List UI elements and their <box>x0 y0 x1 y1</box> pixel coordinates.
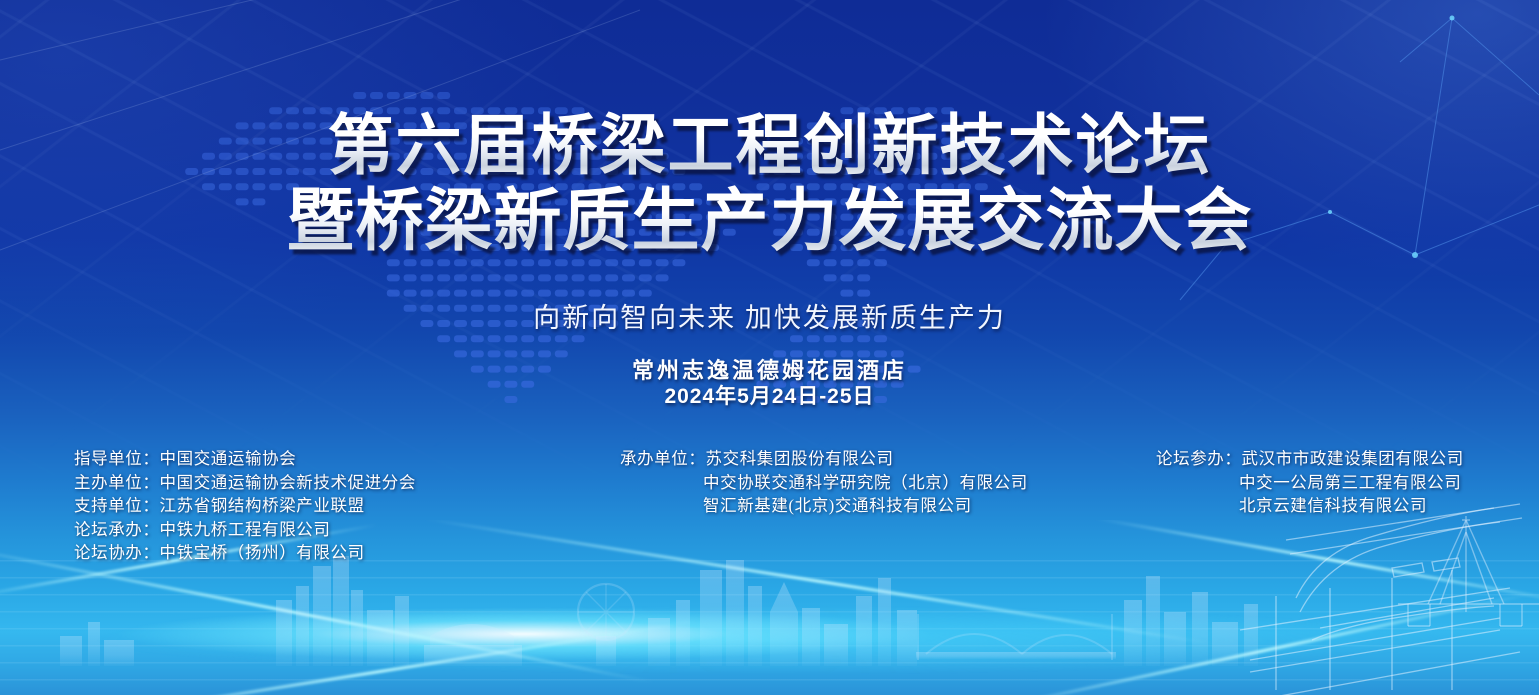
organizer-label <box>1156 494 1239 518</box>
organizer-value: 北京云建信科技有限公司 <box>1239 494 1427 518</box>
organizer-label: 主办单位： <box>74 471 160 495</box>
organizers-column-left: 指导单位： 中国交通运输协会 主办单位： 中国交通运输协会新技术促进分会 支持单… <box>74 447 416 565</box>
organizer-row: 论坛协办： 中铁宝桥（扬州）有限公司 <box>74 541 416 565</box>
organizer-row: 北京云建信科技有限公司 <box>1156 494 1464 518</box>
organizer-row: 中交一公局第三工程有限公司 <box>1156 471 1464 495</box>
organizers-column-right: 论坛参办： 武汉市市政建设集团有限公司 中交一公局第三工程有限公司 北京云建信科… <box>1156 447 1464 518</box>
conference-subtitle: 向新向智向未来 加快发展新质生产力 <box>0 296 1539 335</box>
organizer-value: 中铁宝桥（扬州）有限公司 <box>160 541 365 565</box>
organizer-value: 中国交通运输协会新技术促进分会 <box>160 471 417 495</box>
organizer-label: 论坛承办： <box>74 518 160 542</box>
organizer-row: 支持单位： 江苏省钢结构桥梁产业联盟 <box>74 494 416 518</box>
organizer-value: 江苏省钢结构桥梁产业联盟 <box>160 494 365 518</box>
organizer-label <box>1156 471 1239 495</box>
organizer-label: 指导单位： <box>74 447 160 471</box>
organizer-row: 主办单位： 中国交通运输协会新技术促进分会 <box>74 471 416 495</box>
organizer-value: 智汇新基建(北京)交通科技有限公司 <box>703 494 972 518</box>
organizer-label: 支持单位： <box>74 494 160 518</box>
organizer-label: 论坛协办： <box>74 541 160 565</box>
organizer-row: 承办单位： 苏交科集团股份有限公司 <box>620 447 1028 471</box>
organizer-value: 中交协联交通科学研究院（北京）有限公司 <box>703 471 1028 495</box>
organizer-row: 中交协联交通科学研究院（北京）有限公司 <box>620 471 1028 495</box>
organizer-row: 论坛参办： 武汉市市政建设集团有限公司 <box>1156 447 1464 471</box>
organizer-value: 中铁九桥工程有限公司 <box>160 518 331 542</box>
title-block: 第六届桥梁工程创新技术论坛 暨桥梁新质生产力发展交流大会 <box>0 108 1539 258</box>
organizer-label: 论坛参办： <box>1156 447 1242 471</box>
organizer-label <box>620 494 703 518</box>
conference-dates: 2024年5月24日-25日 <box>0 380 1539 410</box>
organizer-row: 智汇新基建(北京)交通科技有限公司 <box>620 494 1028 518</box>
organizer-value: 中交一公局第三工程有限公司 <box>1239 471 1461 495</box>
organizer-row: 论坛承办： 中铁九桥工程有限公司 <box>74 518 416 542</box>
conference-title-line-1: 第六届桥梁工程创新技术论坛 <box>0 108 1539 182</box>
conference-banner: 第六届桥梁工程创新技术论坛 暨桥梁新质生产力发展交流大会 向新向智向未来 加快发… <box>0 0 1539 695</box>
organizer-label: 承办单位： <box>620 447 706 471</box>
organizer-value: 苏交科集团股份有限公司 <box>706 447 894 471</box>
organizers-column-middle: 承办单位： 苏交科集团股份有限公司 中交协联交通科学研究院（北京）有限公司 智汇… <box>620 447 1028 518</box>
organizer-value: 武汉市市政建设集团有限公司 <box>1242 447 1464 471</box>
conference-title-line-2: 暨桥梁新质生产力发展交流大会 <box>0 184 1539 258</box>
organizer-value: 中国交通运输协会 <box>160 447 297 471</box>
organizer-label <box>620 471 703 495</box>
organizer-row: 指导单位： 中国交通运输协会 <box>74 447 416 471</box>
